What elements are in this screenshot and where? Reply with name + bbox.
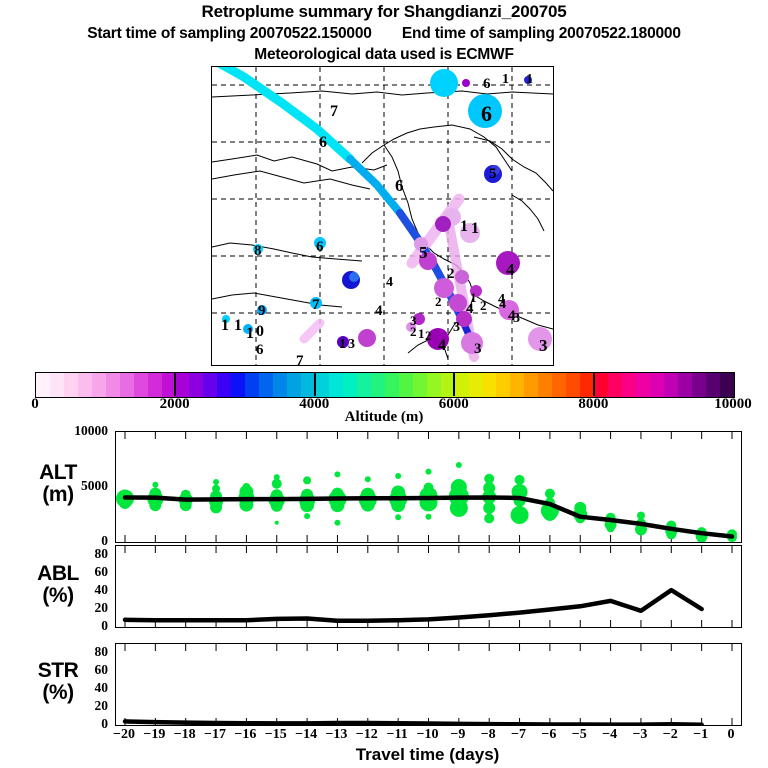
colorbar-tick-10000: 10000: [703, 396, 763, 413]
alt-point: [483, 502, 495, 514]
map-age-label: 5: [489, 167, 497, 182]
plume-blob-31: [455, 270, 469, 284]
map-age-label: 1: [502, 73, 509, 87]
alt-point: [395, 473, 401, 479]
colorbar-band-12: [203, 373, 217, 397]
plume-blob-4: [462, 79, 470, 87]
colorbar-band-22: [343, 373, 357, 397]
abl-line: [125, 590, 702, 621]
str-chart: [116, 644, 741, 725]
map-age-label: 7: [312, 298, 320, 313]
colorbar-band-6: [120, 373, 134, 397]
map-age-label: 1: [526, 73, 533, 87]
map-age-label: 3: [474, 342, 482, 357]
colorbar-band-40: [594, 373, 608, 397]
colorbar-band-3: [78, 373, 92, 397]
map-age-label: 7: [330, 104, 338, 120]
alt-point: [545, 489, 555, 499]
colorbar-band-24: [371, 373, 385, 397]
map-age-label: 9: [258, 304, 266, 319]
alt-scatter-points: [116, 462, 737, 542]
colorbar: [35, 372, 735, 398]
plume-blob-19: [449, 294, 467, 312]
alt-point: [271, 500, 283, 512]
colorbar-band-27: [413, 373, 427, 397]
alt-point: [334, 471, 340, 477]
map-age-label: 4: [438, 338, 446, 354]
colorbar-band-0: [36, 373, 50, 397]
alt-point: [149, 499, 161, 511]
colorbar-band-17: [273, 373, 287, 397]
colorbar-tick-2000: 2000: [145, 396, 205, 413]
colorbar-band-7: [134, 373, 148, 397]
str-panel[interactable]: [115, 643, 742, 726]
y-tick-abl-20: 20: [40, 600, 108, 616]
map-age-label: 2: [480, 299, 487, 312]
alt-point: [515, 475, 525, 485]
x-axis-title: Travel time (days): [115, 745, 740, 765]
colorbar-band-18: [287, 373, 301, 397]
map-age-label: 4: [386, 276, 393, 290]
colorbar-divider: [174, 372, 176, 396]
colorbar-tick-0: 0: [5, 396, 65, 413]
colorbar-band-31: [469, 373, 483, 397]
colorbar-band-46: [678, 373, 692, 397]
map-age-label: 2: [410, 325, 417, 338]
y-tick-abl-60: 60: [40, 564, 108, 580]
colorbar-band-19: [301, 373, 315, 397]
alt-point: [426, 514, 432, 520]
map-age-label: 2: [447, 267, 455, 282]
map-age-label: 3: [539, 337, 548, 354]
colorbar-band-8: [148, 373, 162, 397]
map-canvas: [212, 67, 553, 365]
map-age-label: 5: [419, 244, 428, 261]
plume-blob-1: [430, 69, 458, 97]
colorbar-band-1: [50, 373, 64, 397]
map-age-label: 2: [435, 295, 442, 308]
alt-chart: [116, 432, 741, 542]
map-age-label: 1: [460, 219, 468, 235]
colorbar-band-21: [329, 373, 343, 397]
map-age-label: 1: [470, 291, 477, 304]
colorbar-band-36: [538, 373, 552, 397]
map-age-label: 1: [221, 318, 229, 334]
alt-panel[interactable]: [115, 431, 742, 543]
colorbar-band-26: [399, 373, 413, 397]
colorbar-band-11: [189, 373, 203, 397]
colorbar-band-15: [245, 373, 259, 397]
map-age-label: 4: [498, 293, 505, 307]
map-age-label: 3: [453, 321, 460, 335]
map-age-label: 1: [339, 338, 346, 352]
sampling-times: Start time of sampling 20070522.150000 E…: [0, 25, 768, 43]
y-tick-str-0: 0: [40, 716, 108, 732]
colorbar-band-2: [64, 373, 78, 397]
colorbar-tick-6000: 6000: [424, 396, 484, 413]
plume-blob-30: [435, 216, 451, 232]
y-tick-abl-0: 0: [40, 618, 108, 634]
colorbar-band-25: [385, 373, 399, 397]
colorbar-band-35: [524, 373, 538, 397]
colorbar-divider: [314, 372, 316, 396]
map-age-label: 4: [375, 304, 383, 319]
alt-point: [210, 501, 222, 513]
str-line: [125, 721, 702, 724]
map-age-label: 6: [481, 103, 492, 125]
map-age-label: 3: [348, 338, 355, 352]
alt-point: [484, 513, 494, 523]
page-title: Retroplume summary for Shangdianzi_20070…: [0, 2, 768, 22]
x-tick-0: 0: [709, 727, 753, 743]
alt-point: [152, 482, 158, 488]
colorbar-band-34: [510, 373, 524, 397]
alt-point: [607, 524, 615, 532]
map-age-label: 6: [483, 77, 491, 92]
colorbar-band-47: [692, 373, 706, 397]
colorbar-band-10: [176, 373, 190, 397]
met-data-label: Meteorological data used is ECMWF: [0, 46, 768, 64]
colorbar-band-38: [566, 373, 580, 397]
plume-blob-23: [358, 329, 376, 347]
map-age-label: 6: [256, 343, 264, 358]
map-age-label: 8: [254, 244, 262, 259]
y-tick-abl-40: 40: [40, 582, 108, 598]
map-age-label: 1: [246, 326, 254, 342]
colorbar-band-16: [259, 373, 273, 397]
colorbar-band-20: [315, 373, 329, 397]
colorbar-band-42: [622, 373, 636, 397]
colorbar-band-13: [217, 373, 231, 397]
str-tick-marks: [125, 644, 732, 725]
alt-point: [365, 476, 371, 482]
y-tick-str-80: 80: [40, 644, 108, 660]
colorbar-divider: [593, 372, 595, 396]
alt-point: [426, 469, 432, 475]
abl-panel[interactable]: [115, 545, 742, 628]
colorbar-band-28: [427, 373, 441, 397]
colorbar-tick-4000: 4000: [284, 396, 344, 413]
alt-point: [303, 476, 311, 484]
abl-chart: [116, 546, 741, 627]
retroplume-map[interactable]: 7665221161165867491110671343231242434344…: [211, 66, 554, 366]
colorbar-band-49: [720, 373, 734, 397]
map-age-label: 6: [316, 240, 324, 255]
colorbar-band-41: [608, 373, 622, 397]
alt-point: [213, 479, 219, 485]
abl-tick-marks: [125, 546, 732, 627]
colorbar-band-30: [455, 373, 469, 397]
alt-point: [304, 513, 310, 519]
start-time-label: Start time of sampling 20070522.150000: [87, 25, 371, 42]
end-time-label: End time of sampling 20070522.180000: [402, 25, 681, 42]
map-age-label: 4: [506, 261, 515, 278]
alt-point: [272, 479, 282, 489]
y-tick-str-20: 20: [40, 698, 108, 714]
y-tick-alt-5000: 5000: [40, 478, 108, 494]
map-age-label: 0: [256, 324, 264, 340]
alt-point: [456, 462, 462, 468]
plume-blob-10: [349, 272, 359, 282]
colorbar-band-4: [92, 373, 106, 397]
map-age-label: 7: [296, 354, 304, 366]
alt-point: [511, 506, 529, 524]
map-age-label: 1: [234, 318, 242, 334]
map-age-label: 6: [395, 177, 404, 194]
map-age-label: 1: [471, 221, 479, 237]
alt-point: [334, 520, 340, 526]
map-age-label: 4: [508, 309, 516, 324]
colorbar-title: Altitude (m): [0, 409, 768, 426]
colorbar-band-23: [357, 373, 371, 397]
alt-point: [543, 507, 557, 521]
colorbar-band-14: [231, 373, 245, 397]
colorbar-band-45: [664, 373, 678, 397]
colorbar-tick-8000: 8000: [563, 396, 623, 413]
y-tick-str-40: 40: [40, 680, 108, 696]
colorbar-band-48: [706, 373, 720, 397]
colorbar-band-44: [650, 373, 664, 397]
map-age-label: 2: [425, 329, 432, 342]
colorbar-band-43: [636, 373, 650, 397]
alt-point: [450, 499, 468, 517]
map-age-label: 1: [418, 327, 425, 340]
alt-point: [395, 514, 401, 520]
y-tick-str-60: 60: [40, 662, 108, 678]
colorbar-divider: [453, 372, 455, 396]
colorbar-band-32: [483, 373, 497, 397]
colorbar-band-33: [496, 373, 510, 397]
y-tick-alt-10000: 10000: [40, 423, 108, 439]
alt-point: [275, 521, 279, 525]
map-age-label: 6: [319, 135, 327, 151]
y-tick-abl-80: 80: [40, 546, 108, 562]
colorbar-band-37: [552, 373, 566, 397]
colorbar-band-5: [106, 373, 120, 397]
